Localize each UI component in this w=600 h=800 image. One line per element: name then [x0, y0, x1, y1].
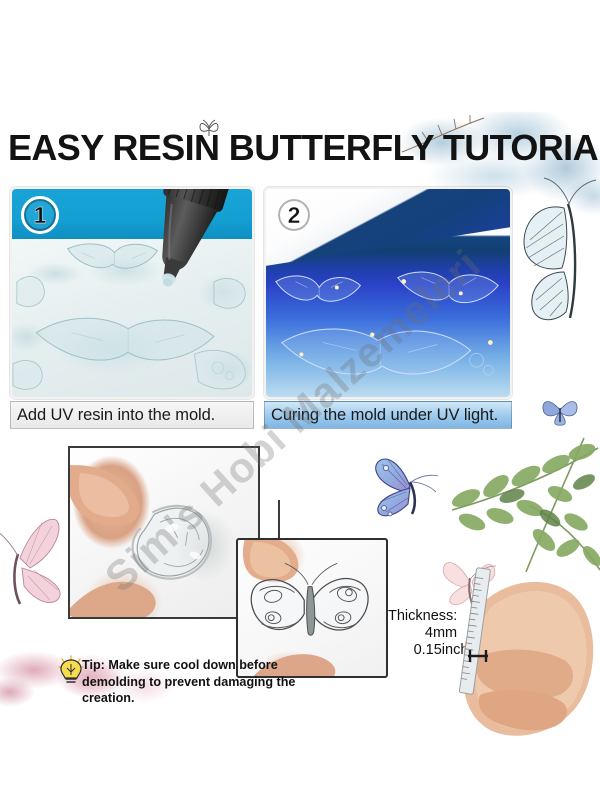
step-2-badge: 2: [275, 196, 313, 234]
glowing-mold-icon: [266, 247, 510, 397]
step-2-caption: Curing the mold under UV light.: [264, 401, 512, 429]
step-2-panel: 2: [264, 187, 512, 399]
tutorial-infographic: EASY RESIN BUTTERFLY TUTORIAL: [0, 0, 600, 800]
step-2-number: 2: [288, 204, 301, 227]
fingers-holding-resin-icon: [70, 448, 258, 617]
step-1-number: 1: [34, 204, 47, 227]
butterfly-icon: [0, 506, 76, 630]
step-1-caption: Add UV resin into the mold.: [10, 401, 254, 429]
butterfly-icon: [366, 452, 444, 526]
fingers-holding-butterfly-icon: [238, 540, 386, 676]
step-1-panel: 1: [10, 187, 254, 399]
lightbulb-icon: [58, 655, 84, 685]
butterfly-icon: [540, 392, 580, 428]
tip-text: Tip: Make sure cool down before demoldin…: [82, 657, 297, 707]
step-1-badge: 1: [21, 196, 59, 234]
connector-line: [278, 500, 280, 540]
demolding-photo-panel: [68, 446, 260, 619]
page-title: EASY RESIN BUTTERFLY TUTORIAL: [8, 127, 568, 169]
hand-holding-ruler-icon: [446, 560, 600, 742]
butterfly-icon: [512, 176, 598, 326]
butterfly-icon: [198, 119, 220, 139]
